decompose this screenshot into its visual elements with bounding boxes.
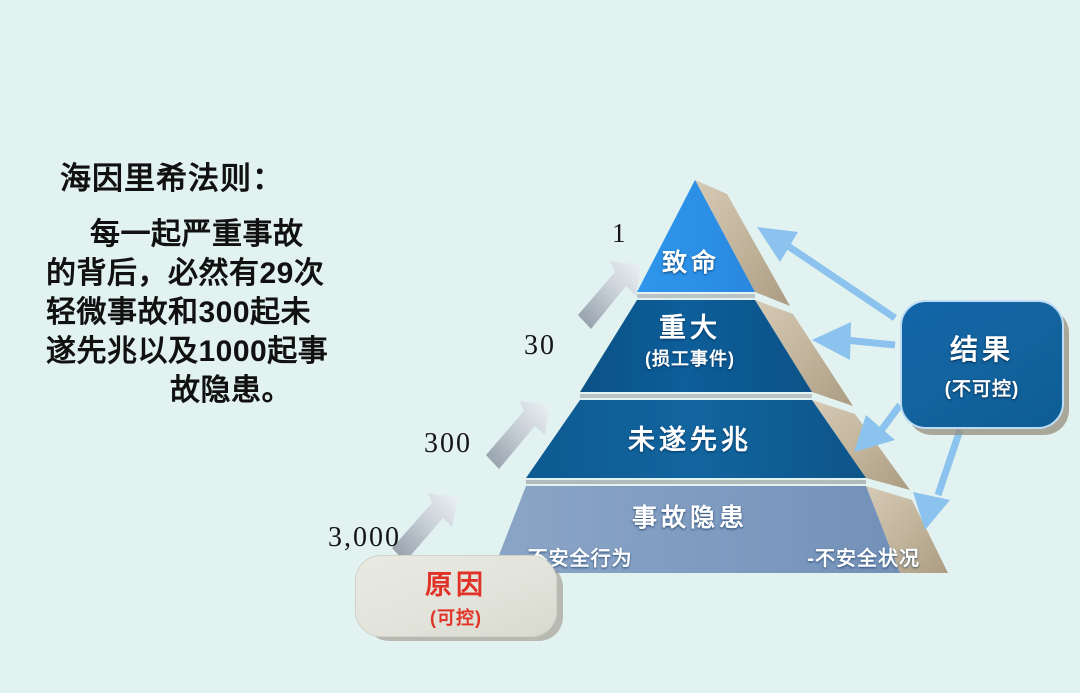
result-arrow-to-major	[845, 340, 895, 345]
callout-cause[interactable]: 原因 (可控)	[355, 555, 557, 637]
result-arrow-to-hazard	[938, 430, 960, 495]
callout-result-subtitle: (不可控)	[945, 374, 1020, 401]
pyramid-level-hazard[interactable]	[492, 486, 900, 573]
result-arrow-to-fatal	[785, 244, 895, 318]
callout-result[interactable]: 结果 (不可控)	[900, 300, 1064, 429]
ratio-arrow-lower	[392, 493, 458, 562]
callout-cause-title: 原因	[425, 563, 487, 602]
callout-cause-subtitle: (可控)	[430, 604, 482, 630]
pyramid-level-near-miss[interactable]	[526, 400, 866, 478]
callout-result-title: 结果	[950, 328, 1014, 368]
result-arrow-to-near-miss	[880, 405, 900, 432]
diagram-canvas: 海因里希法则： 每一起严重事故 的背后，必然有29次 轻微事故和300起未 遂先…	[0, 0, 1080, 693]
